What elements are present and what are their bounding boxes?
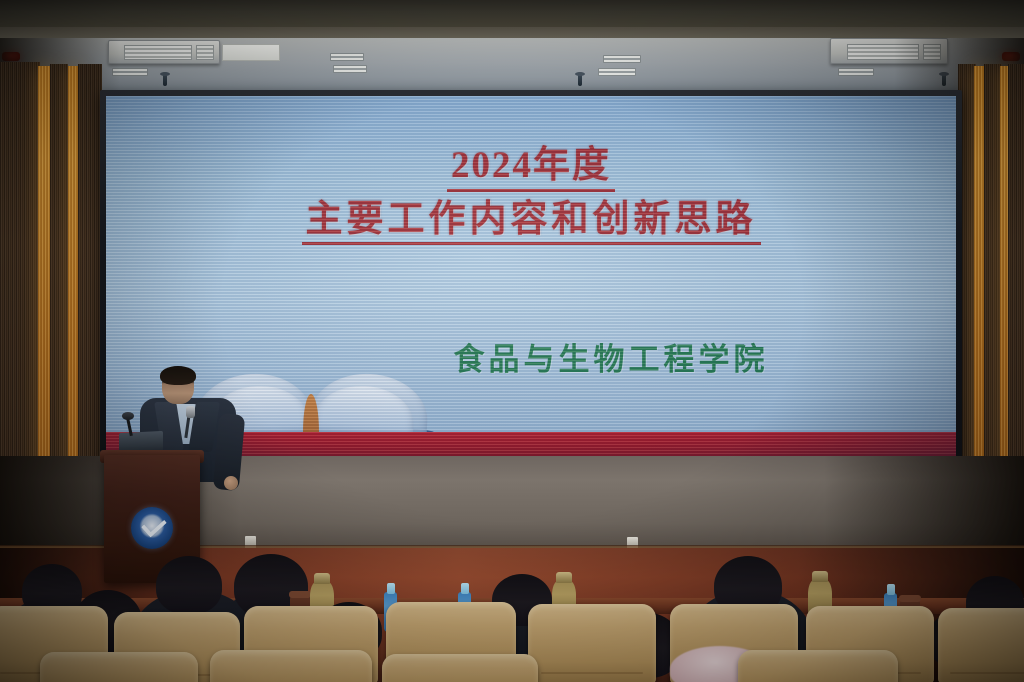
ceiling-light-panel bbox=[222, 44, 280, 61]
institution-emblem-icon bbox=[131, 507, 173, 549]
auditorium-seat bbox=[938, 608, 1024, 682]
air-conditioner-cassette-left bbox=[108, 40, 220, 64]
front-wall-shadow-right bbox=[824, 456, 1024, 552]
auditorium-seat-front bbox=[382, 654, 538, 682]
microphone-icon bbox=[122, 412, 134, 420]
presenter-hand bbox=[224, 476, 238, 490]
auditorium-seat-front bbox=[40, 652, 198, 682]
ac-side-vent-icon bbox=[196, 45, 213, 60]
auditorium-seat bbox=[528, 604, 656, 682]
ceiling-vent-icon bbox=[330, 53, 364, 61]
ceiling-vent-icon bbox=[598, 68, 636, 76]
ceiling-vent-icon bbox=[603, 55, 641, 63]
sprinkler-head-icon bbox=[578, 74, 582, 86]
microphone-icon-secondary bbox=[186, 406, 195, 418]
ceiling-upper-soffit bbox=[0, 0, 1024, 30]
ceiling-vent-icon bbox=[838, 68, 874, 76]
presenter-hair bbox=[160, 366, 196, 385]
photo-scene: 2024年度 主要工作内容和创新思路 食品与生物工程学院 bbox=[0, 0, 1024, 682]
ceiling-vent-icon bbox=[333, 65, 367, 73]
slide-title-block: 2024年度 主要工作内容和创新思路 bbox=[106, 144, 956, 245]
ac-grille-icon bbox=[124, 45, 192, 60]
slide-title-line-1: 2024年度 bbox=[447, 144, 615, 192]
sprinkler-head-icon bbox=[163, 74, 167, 86]
slide-title-line-2: 主要工作内容和创新思路 bbox=[302, 198, 761, 246]
audience-head bbox=[156, 556, 222, 614]
auditorium-seat-front bbox=[210, 650, 372, 682]
auditorium-seat-front bbox=[738, 650, 898, 682]
